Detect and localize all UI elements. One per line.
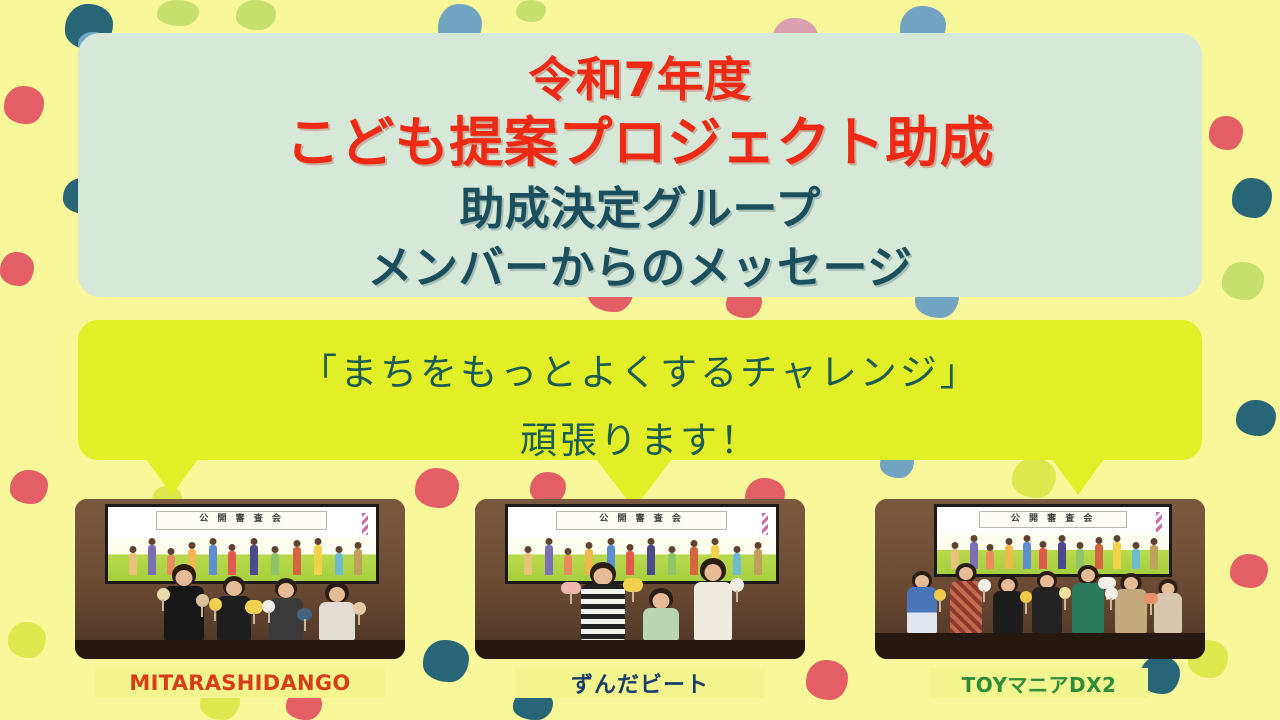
speech-bubble: 「まちをもっとよくするチャレンジ」 頑張ります！ <box>78 320 1202 460</box>
photo-person <box>1152 579 1184 633</box>
group-label-mitarashidango: MITARASHIDANGO <box>95 668 385 698</box>
group-label-zundabeat: ずんだビート <box>515 668 765 698</box>
decor-blob <box>1222 262 1264 300</box>
screen-squiggle-decor <box>362 513 368 535</box>
group-photo-2: 公 開 審 査 会 <box>475 499 805 659</box>
decor-blob <box>236 0 276 30</box>
decor-blob <box>516 0 546 22</box>
photo-person <box>640 588 682 640</box>
photo-person <box>991 575 1025 633</box>
photo-person <box>266 578 306 640</box>
illus-figure <box>986 551 994 569</box>
decor-blob <box>1232 178 1272 218</box>
header-panel: 令和7年度 こども提案プロジェクト助成 助成決定グループ メンバーからのメッセー… <box>78 33 1202 297</box>
photo-person <box>1030 571 1064 633</box>
illus-figure <box>1132 549 1140 569</box>
illus-figure <box>564 555 572 575</box>
group-photo-3: 公 開 審 査 会 <box>875 499 1205 659</box>
photo-person <box>905 571 939 633</box>
photo-person <box>1070 565 1106 633</box>
decor-blob <box>4 86 44 124</box>
illus-figure <box>129 553 137 575</box>
title-line-4: メンバーからのメッセージ <box>78 245 1202 290</box>
photo-person <box>214 576 254 640</box>
illus-figure <box>148 545 156 575</box>
photo-person <box>690 558 736 640</box>
stage-floor <box>875 633 1205 659</box>
illus-figure <box>524 553 532 575</box>
title-line-3: 助成決定グループ <box>78 186 1202 231</box>
title-line-1: 令和7年度 <box>78 57 1202 104</box>
illus-figure <box>668 553 676 575</box>
slide-canvas: 令和7年度 こども提案プロジェクト助成 助成決定グループ メンバーからのメッセー… <box>0 0 1280 720</box>
screen-illustration <box>108 538 376 581</box>
projector-screen: 公 開 審 査 会 <box>105 504 379 584</box>
illus-figure <box>1150 545 1158 569</box>
stage-floor <box>475 640 805 659</box>
illus-figure <box>754 549 762 575</box>
title-line-2: こども提案プロジェクト助成 <box>78 116 1202 170</box>
photo-card-zundabeat[interactable]: 公 開 審 査 会 <box>475 499 805 659</box>
illus-figure <box>209 545 217 575</box>
illus-figure <box>1058 542 1066 569</box>
projector-screen: 公 開 審 査 会 <box>505 504 779 584</box>
illus-figure <box>1039 548 1047 569</box>
photo-person <box>161 564 207 640</box>
illus-figure <box>250 545 258 575</box>
photo-person <box>577 562 629 640</box>
illus-figure <box>293 547 301 575</box>
illus-figure <box>271 553 279 575</box>
decor-blob <box>1209 116 1243 150</box>
illus-figure <box>335 553 343 575</box>
illus-figure <box>545 545 553 575</box>
speech-bubble-tail-left <box>146 459 198 495</box>
screen-banner: 公 開 審 査 会 <box>979 511 1127 529</box>
stage-floor <box>75 640 405 659</box>
photo-person <box>316 582 358 640</box>
decor-blob <box>1012 458 1056 498</box>
decor-blob <box>0 252 34 286</box>
illus-figure <box>314 545 322 575</box>
decor-blob <box>1236 400 1276 436</box>
photo-card-mitarashidango[interactable]: 公 開 審 査 会 <box>75 499 405 659</box>
screen-squiggle-decor <box>1156 512 1162 532</box>
group-label-toymania: TOYマニアDX2 <box>930 668 1148 698</box>
photo-person <box>948 563 984 633</box>
group-photo-1: 公 開 審 査 会 <box>75 499 405 659</box>
decor-blob <box>157 0 199 26</box>
screen-banner: 公 開 審 査 会 <box>156 511 327 530</box>
illus-figure <box>1023 542 1031 569</box>
screen-banner: 公 開 審 査 会 <box>556 511 727 530</box>
bubble-line-1: 「まちをもっとよくするチャレンジ」 <box>78 320 1202 396</box>
illus-figure <box>647 545 655 575</box>
illus-figure <box>1113 542 1121 569</box>
screen-squiggle-decor <box>762 513 768 535</box>
illus-figure <box>1005 545 1013 569</box>
illus-figure <box>228 551 236 575</box>
bubble-line-2: 頑張ります！ <box>78 396 1202 464</box>
speech-bubble-tail-right <box>1052 459 1104 495</box>
photo-person <box>1113 573 1149 633</box>
photo-card-toymania[interactable]: 公 開 審 査 会 <box>875 499 1205 659</box>
illus-figure <box>354 549 362 575</box>
